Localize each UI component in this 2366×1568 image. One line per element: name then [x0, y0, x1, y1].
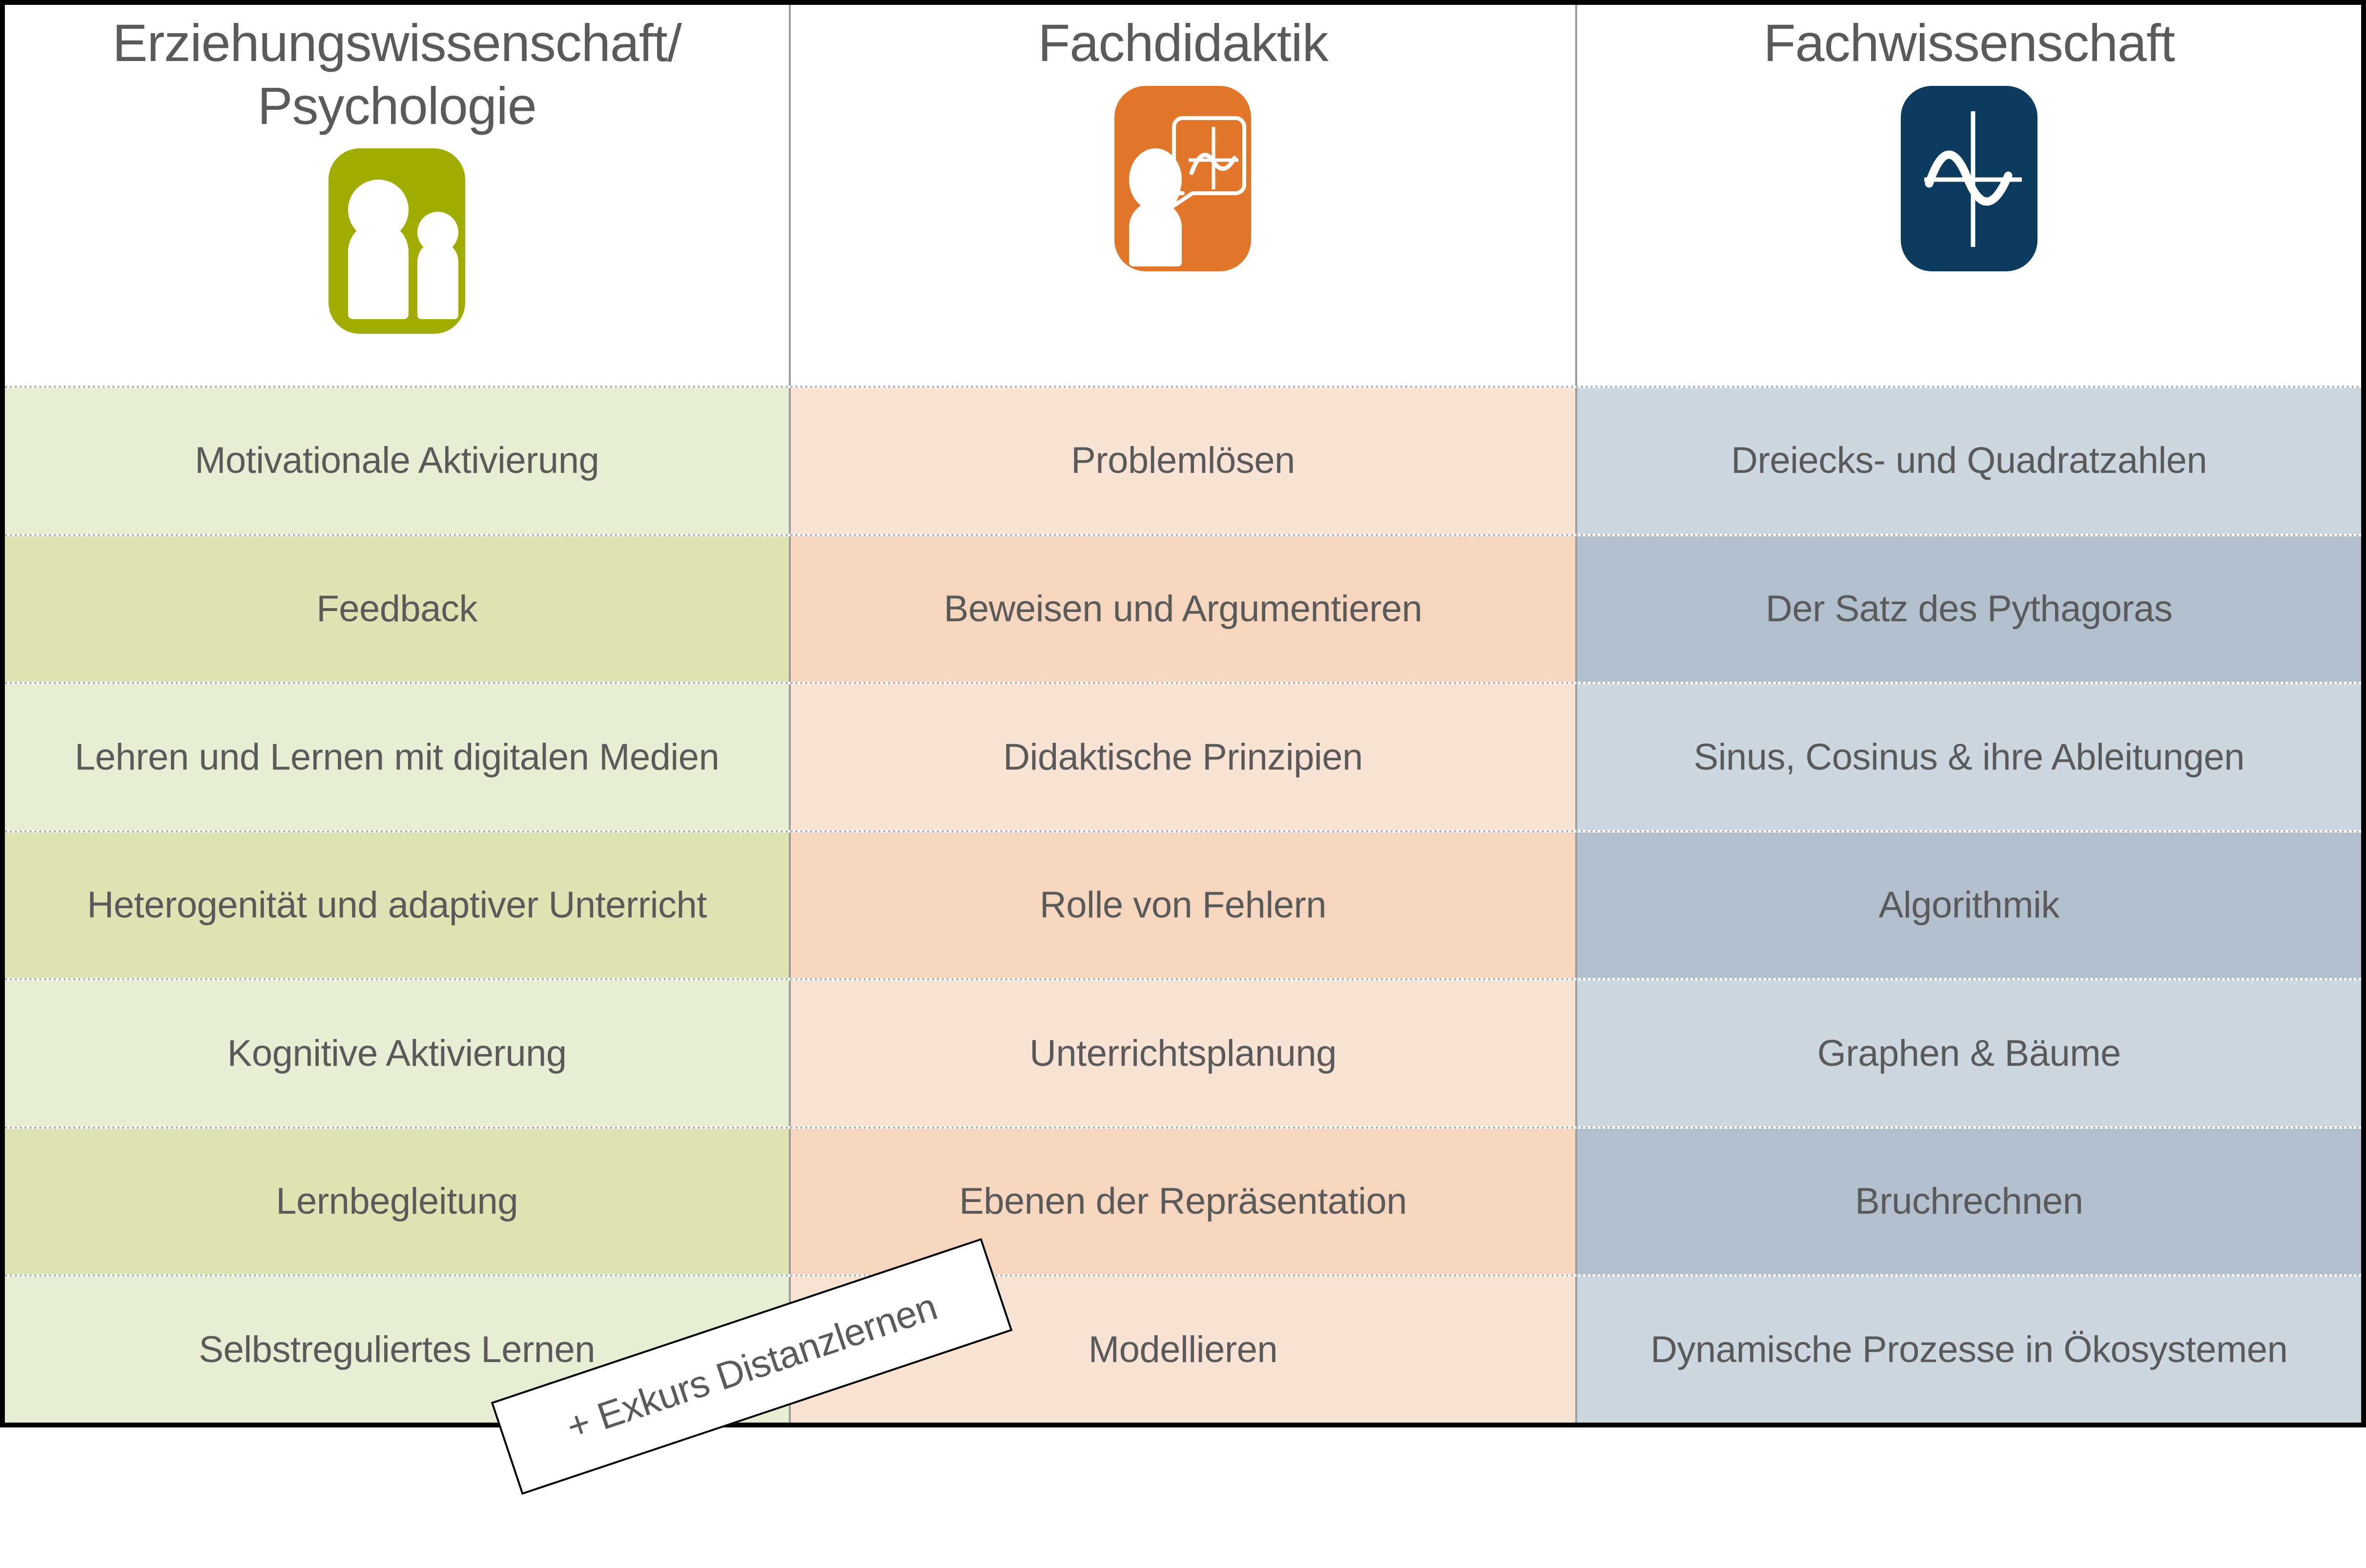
column-header-fachdidaktik: Fachdidaktik	[789, 5, 1575, 386]
sine-curve-axes-icon	[1901, 86, 2037, 271]
table-row: Selbstreguliertes LernenModellierenDynam…	[5, 1274, 2361, 1423]
table-cell: Didaktische Prinzipien	[789, 684, 1575, 830]
teacher-speech-bubble-graph-icon	[1114, 86, 1251, 271]
column-header-erziehungswissenschaft-psychologie: Erziehungswissenschaft/ Psychologie	[5, 5, 789, 386]
table-cell: Lehren und Lernen mit digitalen Medien	[5, 684, 789, 830]
table-cell: Der Satz des Pythagoras	[1575, 536, 2361, 682]
matrix-header-row: Erziehungswissenschaft/ Psychologie Fach…	[5, 5, 2361, 386]
sine-axes-graph	[1901, 86, 2037, 271]
table-row: LernbegleitungEbenen der RepräsentationB…	[5, 1126, 2361, 1275]
table-cell: Feedback	[5, 536, 789, 682]
table-cell: Ebenen der Repräsentation	[789, 1129, 1575, 1275]
adult-body-shape	[348, 222, 409, 319]
table-cell: Dynamische Prozesse in Ökosystemen	[1575, 1277, 2361, 1423]
table-cell: Sinus, Cosinus & ihre Ableitungen	[1575, 684, 2361, 830]
speech-bubble-graph-icon	[1114, 86, 1251, 271]
column-title-2: Fachdidaktik	[1038, 12, 1328, 75]
column-header-fachwissenschaft: Fachwissenschaft	[1575, 5, 2361, 386]
table-cell: Lernbegleitung	[5, 1129, 789, 1275]
table-cell: Kognitive Aktivierung	[5, 980, 789, 1126]
table-cell: Dreiecks- und Quadratzahlen	[1575, 388, 2361, 534]
child-body-shape	[417, 241, 458, 319]
matrix-body: Motivationale AktivierungProblemlösenDre…	[5, 386, 2361, 1423]
table-row: Kognitive AktivierungUnterrichtsplanungG…	[5, 978, 2361, 1126]
column-title-3: Fachwissenschaft	[1764, 12, 2175, 75]
competency-matrix-table: Erziehungswissenschaft/ Psychologie Fach…	[0, 0, 2366, 1427]
table-cell: Bruchrechnen	[1575, 1129, 2361, 1275]
table-cell: Heterogenität und adaptiver Unterricht	[5, 833, 789, 978]
icon-container-2	[1110, 83, 1256, 274]
table-cell: Rolle von Fehlern	[789, 833, 1575, 978]
table-cell: Motivationale Aktivierung	[5, 388, 789, 534]
icon-container-1	[324, 146, 470, 336]
table-cell: Unterrichtsplanung	[789, 980, 1575, 1126]
table-row: Motivationale AktivierungProblemlösenDre…	[5, 386, 2361, 534]
table-cell: Graphen & Bäume	[1575, 980, 2361, 1126]
table-cell: Algorithmik	[1575, 833, 2361, 978]
table-row: Heterogenität und adaptiver UnterrichtRo…	[5, 830, 2361, 978]
icon-container-3	[1896, 83, 2042, 274]
table-row: FeedbackBeweisen und ArgumentierenDer Sa…	[5, 534, 2361, 682]
two-people-icon	[329, 148, 465, 334]
column-title-1: Erziehungswissenschaft/ Psychologie	[112, 12, 681, 137]
table-cell: Problemlösen	[789, 388, 1575, 534]
table-row: Lehren und Lernen mit digitalen MedienDi…	[5, 682, 2361, 830]
table-cell: Beweisen und Argumentieren	[789, 536, 1575, 682]
